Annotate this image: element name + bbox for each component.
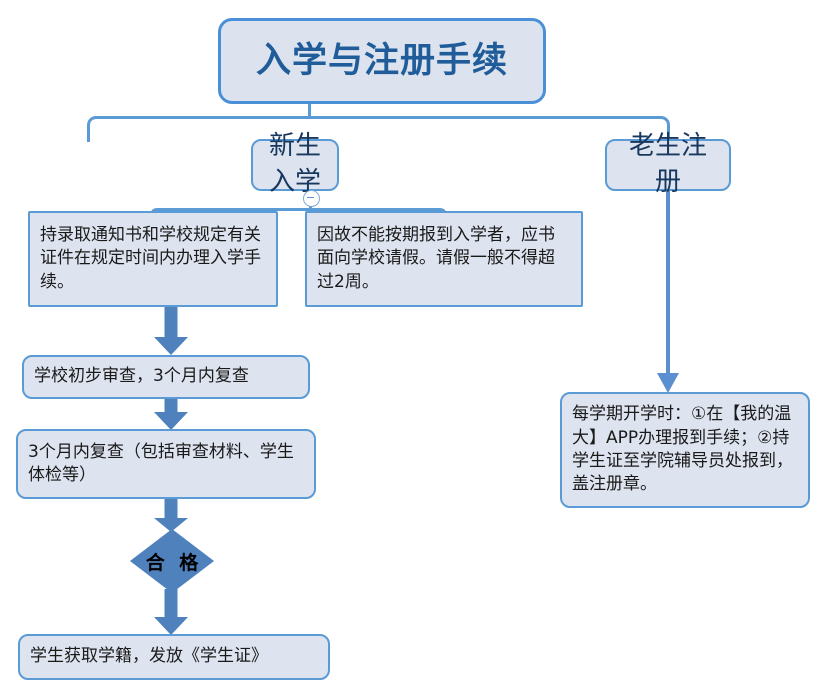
- node-semester-registration-steps[interactable]: 每学期开学时：①在【我的温大】APP办理报到手续；②持学生证至学院辅导员处报到，…: [560, 392, 810, 508]
- arrow-review2-to-decision: [153, 499, 189, 532]
- decision-node-pass-text: 合 格: [130, 529, 214, 593]
- arrow-decision-to-result: [153, 589, 189, 635]
- node-student-record-issued-text: 学生获取学籍，发放《学生证》: [20, 645, 328, 668]
- node-three-month-recheck[interactable]: 3个月内复查（包括审查材料、学生体检等）: [16, 429, 316, 499]
- node-student-record-issued[interactable]: 学生获取学籍，发放《学生证》: [18, 634, 330, 680]
- arrow-review1-to-review2: [153, 399, 189, 430]
- branch-label-new-student: 新生入学: [253, 129, 337, 201]
- node-initial-review-text: 学校初步审查，3个月内复查: [24, 365, 308, 388]
- decision-node-pass[interactable]: 合 格: [130, 529, 214, 593]
- arrow-docs-to-review1: [153, 307, 189, 355]
- chart-title-text: 入学与注册手续: [221, 37, 543, 85]
- node-enrollment-documents[interactable]: 持录取通知书和学校规定有关证件在规定时间内办理入学手续。: [28, 211, 278, 307]
- node-semester-registration-steps-text: 每学期开学时：①在【我的温大】APP办理报到手续；②持学生证至学院辅导员处报到，…: [562, 403, 808, 497]
- chart-title-box[interactable]: 入学与注册手续: [218, 18, 546, 104]
- flowchart-canvas: 入学与注册手续 新生入学 老生注册 持录取通知书和学校规定有关证件在规定时间内办…: [0, 0, 828, 699]
- node-three-month-recheck-text: 3个月内复查（包括审查材料、学生体检等）: [18, 441, 314, 488]
- node-leave-request[interactable]: 因故不能按期报到入学者，应书面向学校请假。请假一般不得超过2周。: [305, 211, 583, 307]
- node-initial-review[interactable]: 学校初步审查，3个月内复查: [22, 355, 310, 399]
- node-leave-request-text: 因故不能按期报到入学者，应书面向学校请假。请假一般不得超过2周。: [307, 224, 581, 294]
- collapse-minus-icon[interactable]: [303, 190, 320, 207]
- branch-label-returning-student: 老生注册: [607, 129, 729, 201]
- connector-title-split: [87, 116, 670, 142]
- node-enrollment-documents-text: 持录取通知书和学校规定有关证件在规定时间内办理入学手续。: [30, 224, 276, 294]
- branch-node-returning-student[interactable]: 老生注册: [605, 139, 731, 191]
- branch-node-new-student[interactable]: 新生入学: [251, 139, 339, 191]
- arrow-returning-to-register: [657, 191, 679, 393]
